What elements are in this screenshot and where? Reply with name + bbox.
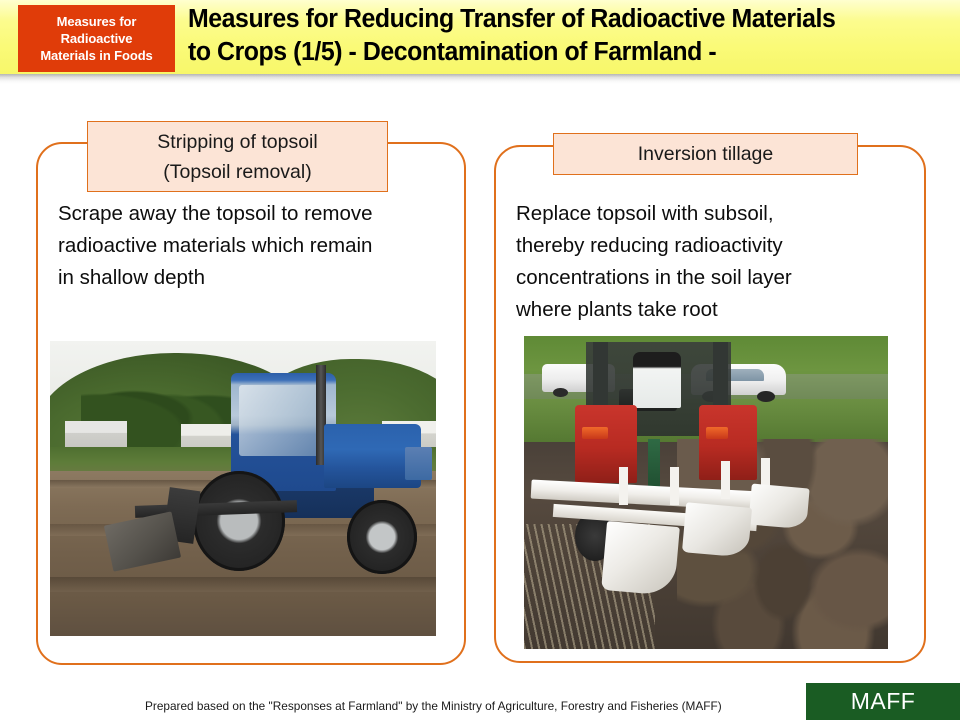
photo-tractor-grille: [405, 447, 432, 479]
panel-label-inversion-tillage: Inversion tillage: [553, 133, 858, 175]
header-badge-line-1: Measures for: [57, 13, 137, 30]
photo-tractor-driver: [633, 352, 680, 408]
panel-label-line-2: (Topsoil removal): [163, 157, 311, 187]
description-line-2: radioactive materials which remain: [58, 230, 454, 262]
photo-plow-standard-3: [721, 461, 730, 499]
header-category-badge: Measures for Radioactive Materials in Fo…: [18, 5, 175, 72]
description-line-3: in shallow depth: [58, 262, 454, 294]
header-shadow-divider: [0, 74, 960, 84]
description-line-3: concentrations in the soil layer: [516, 262, 906, 294]
header-badge-line-3: Materials in Foods: [40, 47, 152, 64]
panel-label-line-1: Stripping of topsoil: [157, 127, 317, 157]
photo-tail-lamp-left: [582, 427, 607, 440]
photo-tail-lamp-right: [706, 427, 728, 440]
photo-furrow-3: [50, 577, 436, 592]
slide-header: Measures for Radioactive Materials in Fo…: [0, 0, 960, 74]
page-title-line-1: Measures for Reducing Transfer of Radioa…: [188, 3, 937, 36]
photo-plow-share-3: [748, 484, 810, 530]
photo-tractor-cab-window: [239, 385, 324, 456]
panel-label-line-1: Inversion tillage: [638, 139, 774, 169]
description-line-4: where plants take root: [516, 294, 906, 326]
page-title-line-2: to Crops (1/5) - Decontamination of Farm…: [188, 36, 937, 69]
page-title: Measures for Reducing Transfer of Radioa…: [188, 3, 937, 69]
source-note: Prepared based on the "Responses at Farm…: [145, 698, 795, 714]
description-line-1: Replace topsoil with subsoil,: [516, 198, 906, 230]
maff-logo: MAFF: [806, 683, 960, 720]
panel-description-inversion-tillage: Replace topsoil with subsoil, thereby re…: [516, 198, 906, 326]
photo-plow-share-2: [682, 502, 752, 558]
photo-car-left-tire-front: [553, 388, 568, 397]
photo-house-1: [65, 421, 127, 448]
panel-label-stripping-of-topsoil: Stripping of topsoil (Topsoil removal): [87, 121, 388, 192]
description-line-1: Scrape away the topsoil to remove: [58, 198, 454, 230]
photo-tractor-front-wheel: [347, 500, 416, 574]
description-line-2: thereby reducing radioactivity: [516, 230, 906, 262]
photo-topsoil-stripping-tractor: [50, 341, 436, 636]
photo-plow-standard-2: [670, 467, 679, 505]
panel-description-stripping-of-topsoil: Scrape away the topsoil to remove radioa…: [58, 198, 454, 294]
photo-inversion-tillage-plow: [524, 336, 888, 649]
photo-plow-mast: [648, 439, 661, 492]
header-badge-line-2: Radioactive: [61, 30, 133, 47]
photo-plow-standard-1: [619, 467, 628, 505]
photo-tractor-rear-wheel: [193, 471, 286, 571]
photo-car-right-tire-rear: [757, 391, 775, 402]
